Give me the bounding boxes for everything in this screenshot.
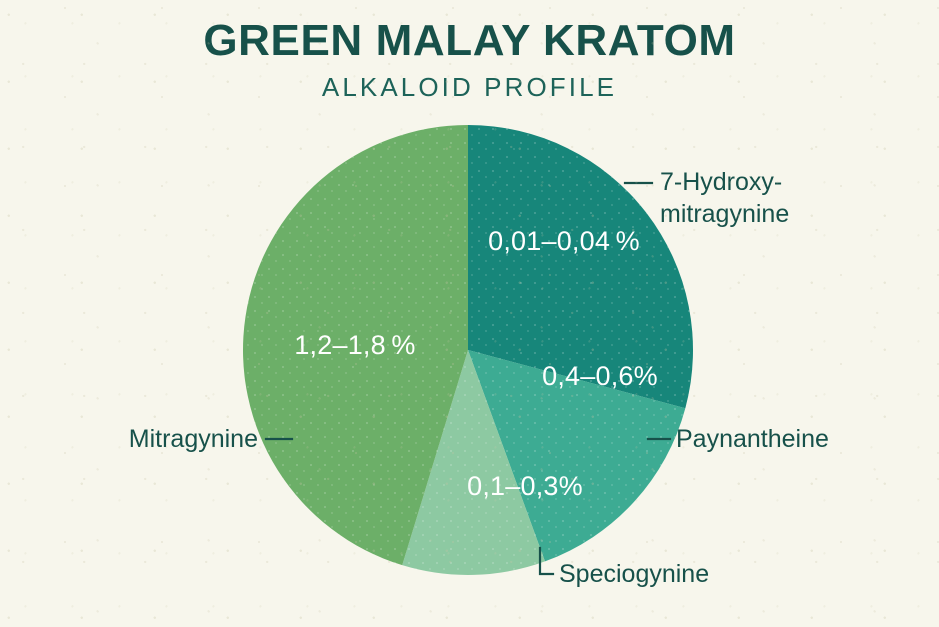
slice-callout-label-line: mitragynine bbox=[660, 200, 789, 228]
slice-callout-label[interactable]: Speciogynine bbox=[559, 560, 709, 588]
page-subtitle: ALKALOID PROFILE bbox=[0, 74, 939, 101]
slice-value-label: 0,1–0,3% bbox=[467, 471, 583, 501]
slice-callout-label-line: Paynantheine bbox=[676, 425, 829, 453]
slice-value-label: 0,4–0,6% bbox=[542, 361, 658, 391]
chart-canvas: GREEN MALAY KRATOM ALKALOID PROFILE 0,01… bbox=[0, 0, 939, 627]
slice-callout-label[interactable]: Paynantheine bbox=[676, 425, 829, 453]
slice-callout-label-line: Speciogynine bbox=[559, 560, 709, 588]
page-title: GREEN MALAY KRATOM bbox=[0, 18, 939, 64]
slice-callout-label-line: 7-Hydroxy- bbox=[660, 168, 782, 196]
chart-heading-block: GREEN MALAY KRATOM ALKALOID PROFILE bbox=[0, 18, 939, 101]
slice-value-label: 0,01–0,04 % bbox=[488, 226, 640, 256]
slice-value-label: 1,2–1,8 % bbox=[294, 330, 415, 360]
slice-callout-label[interactable]: Mitragynine bbox=[129, 425, 258, 453]
slice-callout-label[interactable]: 7-Hydroxy-mitragynine bbox=[660, 168, 789, 228]
slice-callout-label-line: Mitragynine bbox=[129, 425, 258, 453]
